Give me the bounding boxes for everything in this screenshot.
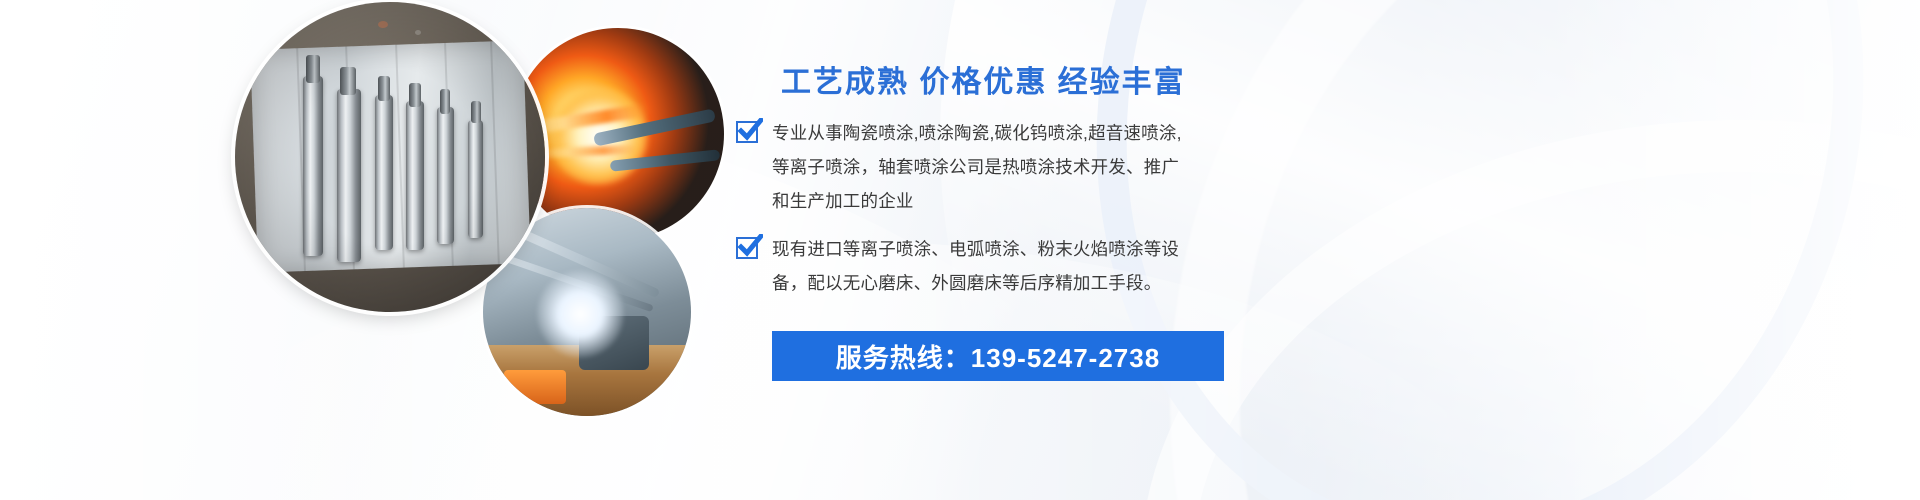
bullet-line: 等离子喷涂，轴套喷涂公司是热喷涂技术开发、推广 bbox=[772, 150, 1182, 184]
hotline-bar[interactable]: 服务热线：139-5247-2738 bbox=[772, 331, 1224, 381]
machine-body bbox=[504, 370, 566, 403]
text-column: 工艺成熟 价格优惠 经验丰富 专业从事陶瓷喷涂,喷涂陶瓷,碳化钨喷涂,超音速喷涂… bbox=[736, 68, 1376, 300]
check-icon bbox=[736, 237, 758, 259]
metal-rods-photo bbox=[235, 2, 545, 312]
photo-vignette bbox=[235, 2, 545, 312]
feature-bullet-1: 专业从事陶瓷喷涂,喷涂陶瓷,碳化钨喷涂,超音速喷涂, 等离子喷涂，轴套喷涂公司是… bbox=[736, 116, 1376, 218]
hotline-text: 服务热线：139-5247-2738 bbox=[836, 338, 1160, 375]
bullet-line: 备，配以无心磨床、外圆磨床等后序精加工手段。 bbox=[772, 266, 1179, 300]
feature-bullet-2: 现有进口等离子喷涂、电弧喷涂、粉末火焰喷涂等设 备，配以无心磨床、外圆磨床等后序… bbox=[736, 232, 1376, 300]
bullet-line: 专业从事陶瓷喷涂,喷涂陶瓷,碳化钨喷涂,超音速喷涂, bbox=[772, 116, 1182, 150]
bullet-line: 和生产加工的企业 bbox=[772, 184, 1182, 218]
bullet-line: 现有进口等离子喷涂、电弧喷涂、粉末火焰喷涂等设 bbox=[772, 232, 1179, 266]
background-vignette-right bbox=[1540, 0, 1920, 500]
photo-cluster bbox=[215, 0, 760, 422]
check-icon bbox=[736, 121, 758, 143]
headline: 工艺成熟 价格优惠 经验丰富 bbox=[781, 68, 1376, 98]
work-glow bbox=[537, 270, 624, 357]
promo-banner: 工艺成熟 价格优惠 经验丰富 专业从事陶瓷喷涂,喷涂陶瓷,碳化钨喷涂,超音速喷涂… bbox=[0, 0, 1920, 500]
feature-bullet-2-text: 现有进口等离子喷涂、电弧喷涂、粉末火焰喷涂等设 备，配以无心磨床、外圆磨床等后序… bbox=[772, 232, 1179, 300]
feature-bullet-1-text: 专业从事陶瓷喷涂,喷涂陶瓷,碳化钨喷涂,超音速喷涂, 等离子喷涂，轴套喷涂公司是… bbox=[772, 116, 1182, 218]
